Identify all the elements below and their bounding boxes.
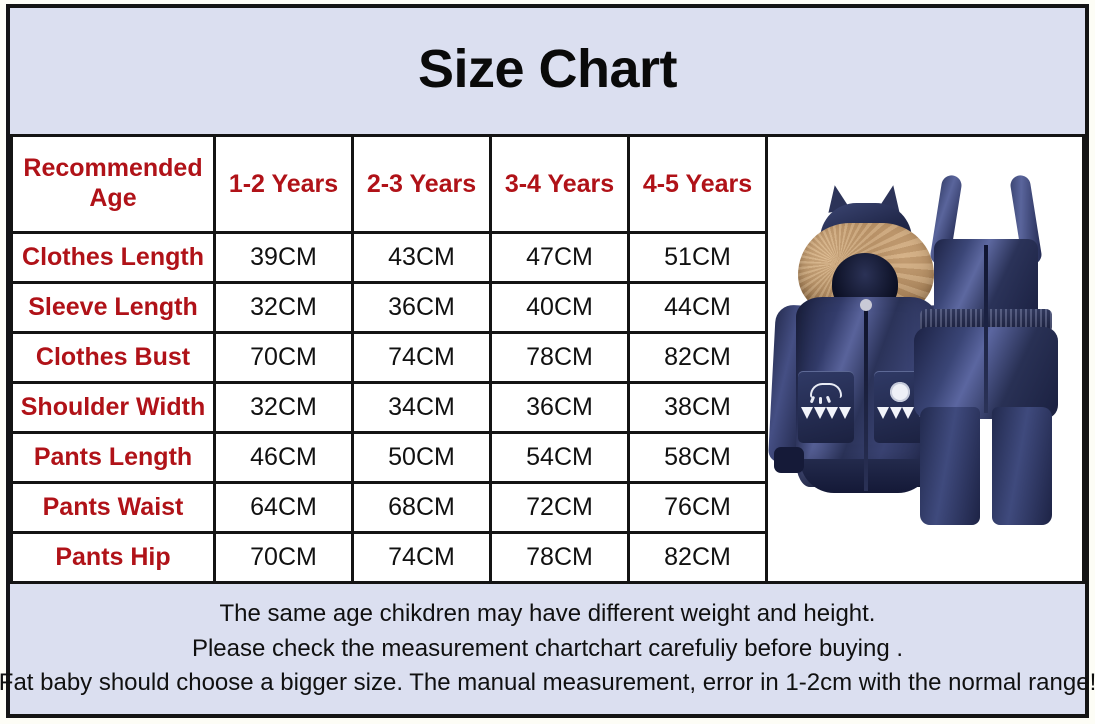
table-row: Pants Waist 64CM 68CM 72CM 76CM xyxy=(12,482,767,532)
main-area: Recommended Age 1-2 Years 2-3 Years 3-4 … xyxy=(10,134,1085,584)
cell-sleeve-length-1: 36CM xyxy=(353,282,491,332)
cell-shoulder-width-2: 36CM xyxy=(491,382,629,432)
pants-leg-left xyxy=(920,407,980,525)
header-age-line1: Recommended xyxy=(15,154,211,184)
cell-clothes-length-2: 47CM xyxy=(491,232,629,282)
cell-clothes-length-3: 51CM xyxy=(629,232,767,282)
row-label-clothes-length: Clothes Length xyxy=(12,232,215,282)
cell-pants-length-2: 54CM xyxy=(491,432,629,482)
size-table: Recommended Age 1-2 Years 2-3 Years 3-4 … xyxy=(10,134,768,584)
cell-clothes-length-1: 43CM xyxy=(353,232,491,282)
cell-clothes-bust-3: 82CM xyxy=(629,332,767,382)
cell-pants-hip-2: 78CM xyxy=(491,532,629,582)
footer-notes: The same age chikdren may have different… xyxy=(10,584,1085,714)
cell-clothes-bust-0: 70CM xyxy=(215,332,353,382)
row-label-pants-waist: Pants Waist xyxy=(12,482,215,532)
row-label-pants-length: Pants Length xyxy=(12,432,215,482)
monster-lash-icon xyxy=(819,397,822,404)
tooth-icon xyxy=(826,407,838,419)
footer-line-1: The same age chikdren may have different… xyxy=(220,597,876,632)
pants-leg-right xyxy=(992,407,1052,525)
cell-sleeve-length-0: 32CM xyxy=(215,282,353,332)
header-cell-age-1: 2-3 Years xyxy=(353,136,491,233)
jacket-zipper-pull-icon xyxy=(860,299,872,311)
tooth-icon xyxy=(890,407,902,419)
size-chart-page: Size Chart Recommended Age 1-2 Years 2-3… xyxy=(0,0,1095,724)
chart-frame: Size Chart Recommended Age 1-2 Years 2-3… xyxy=(6,4,1089,718)
footer-line-2: Please check the measurement chartchart … xyxy=(192,632,903,667)
title-bar: Size Chart xyxy=(10,8,1085,134)
cell-clothes-bust-2: 78CM xyxy=(491,332,629,382)
cell-pants-waist-2: 72CM xyxy=(491,482,629,532)
table-row: Clothes Length 39CM 43CM 47CM 51CM xyxy=(12,232,767,282)
table-row: Pants Hip 70CM 74CM 78CM 82CM xyxy=(12,532,767,582)
header-age-line2: Age xyxy=(15,184,211,214)
cell-clothes-length-0: 39CM xyxy=(215,232,353,282)
product-photo-panel xyxy=(768,134,1085,584)
cell-pants-length-3: 58CM xyxy=(629,432,767,482)
cell-shoulder-width-3: 38CM xyxy=(629,382,767,432)
header-cell-age-0: 1-2 Years xyxy=(215,136,353,233)
header-cell-recommended-age: Recommended Age xyxy=(12,136,215,233)
cell-pants-hip-0: 70CM xyxy=(215,532,353,582)
cell-pants-length-1: 50CM xyxy=(353,432,491,482)
tooth-icon xyxy=(877,407,889,419)
cell-pants-length-0: 46CM xyxy=(215,432,353,482)
tooth-icon xyxy=(814,407,826,419)
row-label-pants-hip: Pants Hip xyxy=(12,532,215,582)
cell-sleeve-length-3: 44CM xyxy=(629,282,767,332)
table-row: Shoulder Width 32CM 34CM 36CM 38CM xyxy=(12,382,767,432)
jacket-zipper xyxy=(864,301,868,491)
tooth-icon xyxy=(839,407,851,419)
pants-zipper xyxy=(984,245,988,413)
cell-sleeve-length-2: 40CM xyxy=(491,282,629,332)
cell-pants-waist-0: 64CM xyxy=(215,482,353,532)
jacket-cuff-left xyxy=(774,447,804,473)
footer-line-3: Fat baby should choose a bigger size. Th… xyxy=(0,666,1095,701)
table-row: Sleeve Length 32CM 36CM 40CM 44CM xyxy=(12,282,767,332)
cell-pants-waist-3: 76CM xyxy=(629,482,767,532)
table-row: Pants Length 46CM 50CM 54CM 58CM xyxy=(12,432,767,482)
tooth-icon xyxy=(801,407,813,419)
cell-pants-waist-1: 68CM xyxy=(353,482,491,532)
table-header-row: Recommended Age 1-2 Years 2-3 Years 3-4 … xyxy=(12,136,767,233)
cell-clothes-bust-1: 74CM xyxy=(353,332,491,382)
jacket-pocket-left xyxy=(798,371,854,443)
cell-shoulder-width-1: 34CM xyxy=(353,382,491,432)
snow-bib-pants-icon xyxy=(906,175,1066,525)
row-label-sleeve-length: Sleeve Length xyxy=(12,282,215,332)
cell-pants-hip-1: 74CM xyxy=(353,532,491,582)
header-cell-age-3: 4-5 Years xyxy=(629,136,767,233)
cell-pants-hip-3: 82CM xyxy=(629,532,767,582)
page-title: Size Chart xyxy=(418,42,677,100)
monster-teeth-icon xyxy=(801,407,851,419)
header-cell-age-2: 3-4 Years xyxy=(491,136,629,233)
cell-shoulder-width-0: 32CM xyxy=(215,382,353,432)
product-photo-stage xyxy=(768,137,1082,581)
table-row: Clothes Bust 70CM 74CM 78CM 82CM xyxy=(12,332,767,382)
row-label-clothes-bust: Clothes Bust xyxy=(12,332,215,382)
row-label-shoulder-width: Shoulder Width xyxy=(12,382,215,432)
